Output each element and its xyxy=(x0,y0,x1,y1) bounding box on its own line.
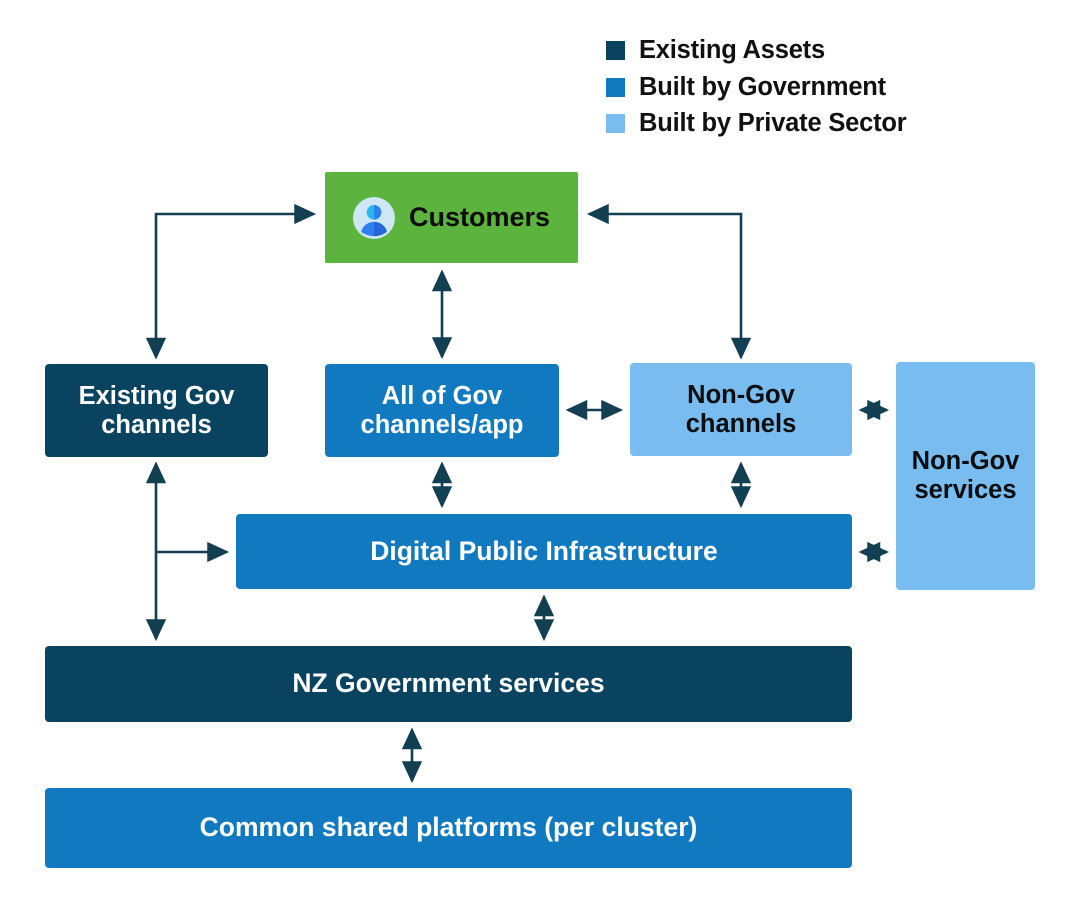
node-non-gov-services-label: Non-Gov services xyxy=(912,447,1020,504)
legend-swatch-built-by-private-sector xyxy=(606,114,625,133)
node-non-gov-channels-line2: channels xyxy=(686,410,797,439)
node-non-gov-channels: Non-Gov channels xyxy=(630,363,852,456)
legend-label-built-by-private-sector: Built by Private Sector xyxy=(639,111,906,137)
node-all-of-gov-channels-line1: All of Gov xyxy=(361,382,524,411)
connector-existing-gov-to-customers xyxy=(156,214,314,357)
legend-item-existing-assets: Existing Assets xyxy=(606,38,906,64)
node-all-of-gov-channels-label: All of Gov channels/app xyxy=(361,382,524,439)
node-non-gov-services-line1: Non-Gov xyxy=(912,447,1020,476)
node-all-of-gov-channels: All of Gov channels/app xyxy=(325,364,559,457)
node-digital-public-infrastructure-label: Digital Public Infrastructure xyxy=(370,537,718,567)
node-customers-label: Customers xyxy=(409,202,550,232)
legend-swatch-built-by-government xyxy=(606,78,625,97)
node-nz-government-services-label: NZ Government services xyxy=(292,669,604,699)
node-non-gov-services: Non-Gov services xyxy=(896,362,1035,590)
node-common-shared-platforms: Common shared platforms (per cluster) xyxy=(45,788,852,868)
node-all-of-gov-channels-line2: channels/app xyxy=(361,411,524,440)
node-existing-gov-channels: Existing Gov channels xyxy=(45,364,268,457)
node-existing-gov-channels-label: Existing Gov channels xyxy=(79,382,235,439)
diagram-canvas: Existing Assets Built by Government Buil… xyxy=(0,0,1080,914)
node-existing-gov-channels-line1: Existing Gov xyxy=(79,382,235,411)
legend-label-existing-assets: Existing Assets xyxy=(639,38,825,64)
connector-non-gov-channels-to-customers xyxy=(589,214,741,357)
node-nz-government-services: NZ Government services xyxy=(45,646,852,722)
node-common-shared-platforms-label: Common shared platforms (per cluster) xyxy=(200,813,698,843)
legend: Existing Assets Built by Government Buil… xyxy=(606,38,906,137)
legend-item-built-by-private-sector: Built by Private Sector xyxy=(606,111,906,137)
node-customers: Customers xyxy=(325,172,578,263)
node-digital-public-infrastructure: Digital Public Infrastructure xyxy=(236,514,852,589)
node-non-gov-channels-line1: Non-Gov xyxy=(686,381,797,410)
legend-swatch-existing-assets xyxy=(606,41,625,60)
person-avatar-icon xyxy=(353,197,395,239)
node-non-gov-channels-label: Non-Gov channels xyxy=(686,381,797,438)
node-existing-gov-channels-line2: channels xyxy=(79,411,235,440)
legend-item-built-by-government: Built by Government xyxy=(606,75,906,101)
legend-label-built-by-government: Built by Government xyxy=(639,75,886,101)
node-non-gov-services-line2: services xyxy=(912,476,1020,505)
